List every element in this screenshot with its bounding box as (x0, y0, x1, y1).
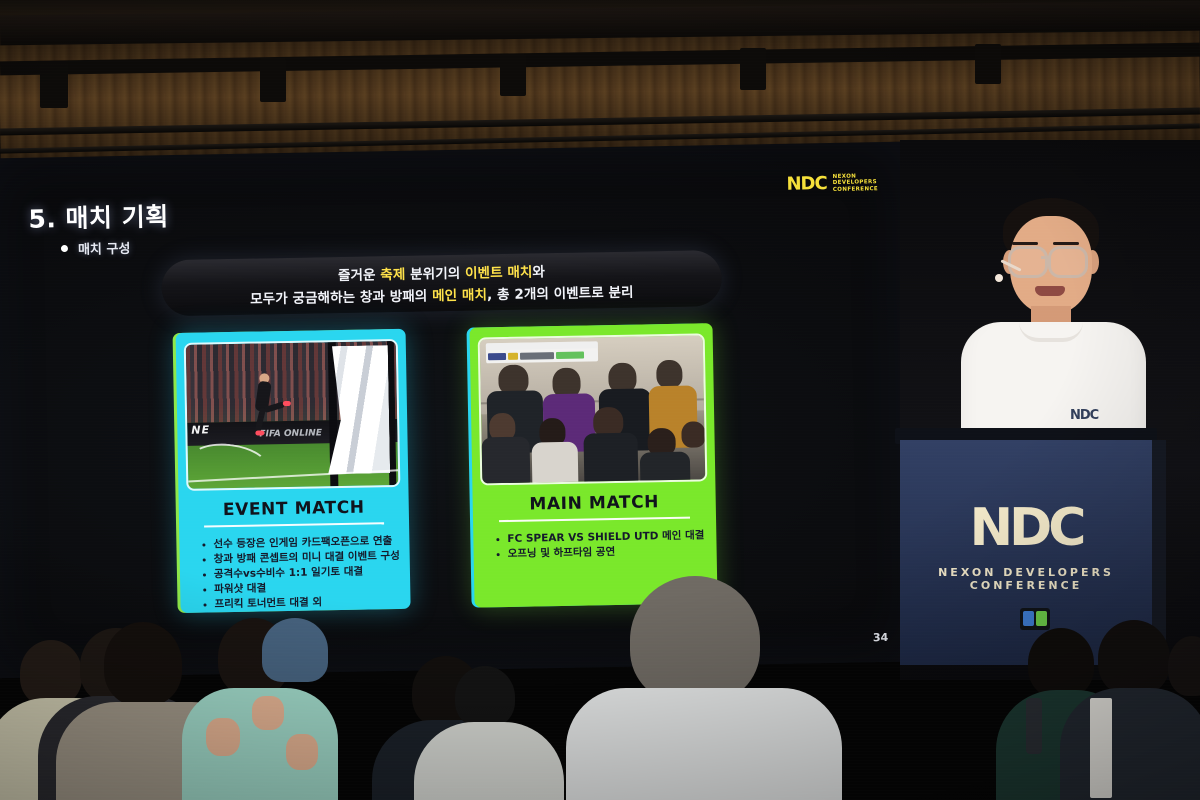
slide-subtitle: 매치 구성 (61, 238, 131, 258)
ndc-logo-watermark: NDC NEXON DEVELOPERS CONFERENCE (786, 172, 878, 195)
scorebar-score-row (486, 348, 598, 363)
scorebar-team-a (488, 353, 506, 360)
ndc-logo-words: NEXON DEVELOPERS CONFERENCE (833, 173, 879, 193)
podium-ndc-words: NEXON DEVELOPERS CONFERENCE (900, 566, 1152, 592)
podium-side-edge (1152, 440, 1166, 665)
headset-microphone-capsule (995, 274, 1003, 282)
spectator-head (656, 360, 683, 388)
main-match-bullets: FC SPEAR VS SHIELD UTD 메인 대결 오프닝 및 하프타임 … (495, 528, 709, 562)
stage-light-1 (40, 62, 68, 108)
audience-shoulders (0, 698, 136, 800)
player-boot-standing (255, 430, 264, 435)
slide-title: 5. 매치 기획 (28, 197, 169, 236)
eyeglasses-right-lens (1048, 246, 1088, 278)
audience-printed-tshirt (182, 688, 338, 800)
banner-l1-pre: 즐거운 (338, 267, 381, 284)
podium-ndc-glyph: NDC (900, 502, 1152, 554)
card-event-match: NE FIFA ONLINE (176, 329, 411, 613)
card-main-match: MAIN MATCH FC SPEAR VS SHIELD UTD 메인 대결 … (469, 323, 717, 607)
presentation-slide: 5. 매치 기획 매치 구성 NDC NEXON DEVELOPERS CONF… (0, 142, 911, 679)
event-match-photo: NE FIFA ONLINE (184, 339, 401, 491)
tshirt-face-print (206, 718, 240, 756)
speaker (955, 198, 1150, 458)
speaker-eyebrow-right (1053, 242, 1079, 245)
list-item: 프리킥 토너먼트 대결 외 (202, 594, 402, 613)
stage-light-2 (260, 58, 286, 102)
eyeglasses-bridge (1041, 256, 1051, 259)
football-player (250, 373, 277, 437)
stage-light-3 (500, 54, 526, 96)
slide-banner: 즐거운 축제 분위기의 이벤트 매치와 모두가 궁금해하는 창과 방패의 메인 … (161, 250, 722, 316)
event-match-bullets: 선수 등장은 인게임 카드팩오픈으로 연출 창과 방패 콘셉트의 미니 대결 이… (201, 534, 402, 613)
scorebar-score (508, 353, 518, 360)
scorebar-team-b (520, 352, 554, 360)
audience-shoulders (56, 702, 252, 800)
event-match-title: EVENT MATCH (187, 497, 401, 521)
audience-shoulders (372, 720, 528, 800)
stage-light-4 (740, 48, 766, 90)
ndc-word-conference: CONFERENCE (833, 186, 878, 193)
stage-light-5 (975, 44, 1001, 84)
tshirt-ndc-logo: NDC (1070, 408, 1098, 423)
spectator-body (532, 442, 579, 486)
audience-shoulders (38, 696, 210, 800)
spectator-body (583, 433, 638, 486)
tshirt-collar (1019, 322, 1083, 342)
slide-subtitle-label: 매치 구성 (78, 238, 131, 258)
banner-l1-mid: 분위기의 (405, 266, 465, 283)
scorebar-status (556, 352, 584, 360)
main-match-photo (478, 333, 708, 485)
audience-shoulders (566, 688, 842, 800)
slide-cards: NE FIFA ONLINE (0, 320, 910, 667)
audience-shoulders (414, 722, 564, 800)
broadcast-scorebar (486, 341, 598, 363)
audience-head (455, 666, 515, 728)
banner-line-2: 모두가 궁금해하는 창과 방패의 메인 매치, 총 2개의 이벤트로 분리 (250, 281, 634, 308)
banner-l1-post: 와 (532, 264, 545, 280)
tshirt-face-print (286, 734, 318, 770)
banner-l1-highlight-1: 축제 (380, 267, 405, 283)
ad-text-left: NE (191, 424, 210, 437)
audience-shoulders (1060, 688, 1200, 800)
banner-l2-highlight: 메인 매치 (432, 287, 487, 304)
projection-screen: 5. 매치 기획 매치 구성 NDC NEXON DEVELOPERS CONF… (0, 142, 911, 679)
podium: NDC NEXON DEVELOPERS CONFERENCE (900, 440, 1152, 665)
eyeglasses-left-lens (1008, 246, 1048, 278)
ndc-logo-glyph: NDC (786, 173, 827, 195)
program-booklet (1090, 698, 1112, 798)
banner-l2-pre: 모두가 궁금해하는 창과 방패의 (250, 288, 432, 307)
slide-page-number: 34 (873, 631, 889, 644)
list-item: 오프닝 및 하프타임 공연 (496, 543, 709, 562)
banner-line-1: 즐거운 축제 분위기의 이벤트 매치와 (338, 260, 545, 284)
bullet-dot-icon (61, 245, 68, 252)
spectator-head (681, 421, 705, 447)
spectator-body (640, 452, 691, 486)
main-match-title: MAIN MATCH (481, 491, 708, 515)
main-match-divider (499, 517, 690, 522)
spectator-body (482, 437, 531, 486)
event-match-divider (204, 522, 384, 527)
podium-branding: NDC NEXON DEVELOPERS CONFERENCE (900, 502, 1152, 592)
audience-shoulders (996, 690, 1136, 800)
tshirt-face-print (252, 696, 284, 730)
speaker-eyebrow-left (1012, 242, 1038, 245)
banner-l2-post: , 총 2개의 이벤트로 분리 (487, 285, 634, 304)
conference-hall-photo: 5. 매치 기획 매치 구성 NDC NEXON DEVELOPERS CONF… (0, 0, 1200, 800)
banner-l1-highlight-2: 이벤트 매치 (465, 264, 533, 281)
water-bottle (1026, 698, 1042, 754)
player-boot-kicking (283, 401, 291, 406)
speaker-mouth (1035, 286, 1065, 296)
